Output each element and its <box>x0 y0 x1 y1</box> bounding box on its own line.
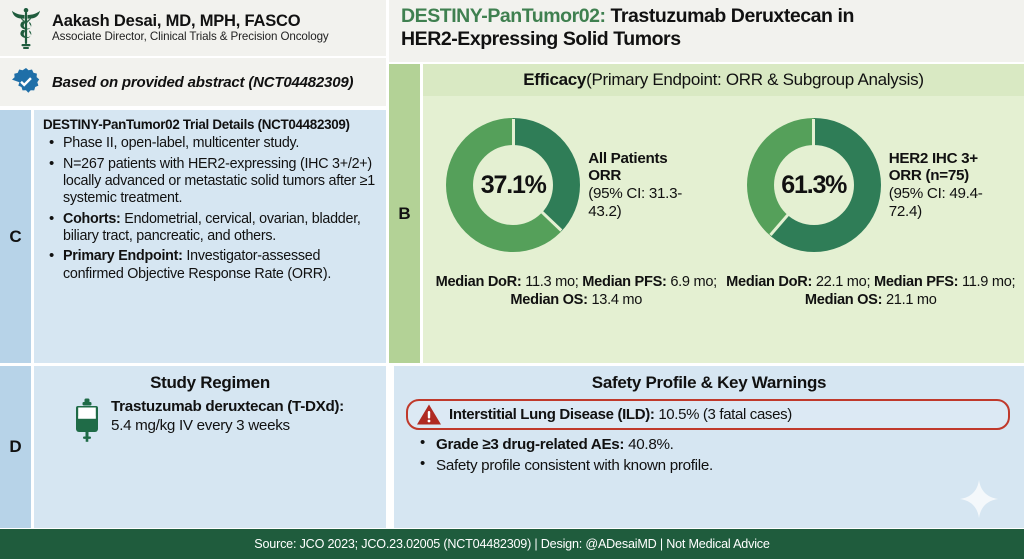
trial-details-title: DESTINY-PanTumor02 Trial Details (NCT044… <box>43 117 378 132</box>
study-regimen-body: Study Regimen <box>34 366 386 528</box>
list-item: Safety profile consistent with known pro… <box>420 456 1010 475</box>
footer-text: Source: JCO 2023; JCO.23.02005 (NCT04482… <box>254 537 769 551</box>
donut-label-ci: (95% CI: 49.4-72.4) <box>889 185 1001 220</box>
list-item: Cohorts: Endometrial, cervical, ovarian,… <box>43 211 378 245</box>
list-item-lead: Primary Endpoint: <box>63 248 183 264</box>
median-outcomes-row: Median DoR: 11.3 mo; Median PFS: 6.9 mo;… <box>423 274 1024 310</box>
warning-triangle-icon <box>416 403 442 426</box>
median-dor-value: 22.1 mo; <box>812 274 874 290</box>
median-pfs-value: 6.9 mo; <box>667 274 717 290</box>
donut-gap-end <box>540 210 562 231</box>
abstract-note: Based on provided abstract (NCT04482309) <box>52 74 353 91</box>
list-item-lead: Grade ≥3 drug-related AEs: <box>436 436 624 453</box>
median-os-value: 21.1 mo <box>882 292 936 308</box>
regimen-text: Trastuzumab deruxtecan (T-DXd): 5.4 mg/k… <box>111 398 344 435</box>
donut-label-title: HER2 IHC 3+ ORR (n=75) <box>889 150 1001 185</box>
list-item-text: Phase II, open-label, multicenter study. <box>63 135 299 151</box>
donut-label-all-patients: All Patients ORR (95% CI: 31.3-43.2) <box>588 150 700 221</box>
abstract-source-bar: Based on provided abstract (NCT04482309) <box>0 58 386 106</box>
donut-gap-start <box>812 119 815 147</box>
regimen-detail: Trastuzumab deruxtecan (T-DXd): 5.4 mg/k… <box>34 393 386 442</box>
donut-row: 37.1% All Patients ORR (95% CI: 31.3-43.… <box>423 96 1024 274</box>
donut-chart-all-patients: 37.1% <box>446 118 580 252</box>
regimen-safety-row: D Study Regimen <box>0 366 1024 528</box>
sparkle-icon <box>956 478 1002 524</box>
study-regimen-title: Study Regimen <box>34 373 386 393</box>
donut-group-all-patients: 37.1% All Patients ORR (95% CI: 31.3-43.… <box>423 96 724 274</box>
donut-value: 61.3% <box>781 171 846 200</box>
title-line-2: HER2-Expressing Solid Tumors <box>401 28 1014 51</box>
author-bar: Aakash Desai, MD, MPH, FASCO Associate D… <box>0 0 386 56</box>
ild-warning-box: Interstitial Lung Disease (ILD): 10.5% (… <box>406 399 1010 430</box>
donut-label-her2-ihc3: HER2 IHC 3+ ORR (n=75) (95% CI: 49.4-72.… <box>889 150 1001 221</box>
list-item: Primary Endpoint: Investigator-assessed … <box>43 248 378 282</box>
median-outcomes-her2-ihc3: Median DoR: 22.1 mo; Median PFS: 11.9 mo… <box>724 274 1019 310</box>
median-outcomes-all-patients: Median DoR: 11.3 mo; Median PFS: 6.9 mo;… <box>429 274 724 310</box>
median-pfs-value: 11.9 mo; <box>958 274 1015 290</box>
efficacy-body: Efficacy (Primary Endpoint: ORR & Subgro… <box>423 64 1024 363</box>
ild-value: 10.5% (3 fatal cases) <box>655 406 792 423</box>
list-item-text: 40.8%. <box>624 436 673 453</box>
median-dor-label: Median DoR: <box>726 274 812 290</box>
regimen-drug: Trastuzumab deruxtecan (T-DXd): <box>111 398 344 417</box>
median-pfs-label: Median PFS: <box>582 274 666 290</box>
median-os-value: 13.4 mo <box>588 292 642 308</box>
safety-panel: Safety Profile & Key Warnings Interstiti… <box>394 366 1024 528</box>
donut-center: 61.3% <box>774 145 854 225</box>
donut-chart-her2-ihc3: 61.3% <box>747 118 881 252</box>
median-pfs-label: Median PFS: <box>874 274 958 290</box>
section-tab-b: B <box>389 64 420 363</box>
caduceus-icon <box>0 6 52 50</box>
trial-details-list: Phase II, open-label, multicenter study.… <box>43 135 378 283</box>
section-tab-c: C <box>0 110 31 363</box>
infographic-canvas: Aakash Desai, MD, MPH, FASCO Associate D… <box>0 0 1024 559</box>
title-line-1: DESTINY-PanTumor02: Trastuzumab Deruxtec… <box>401 5 1014 28</box>
study-name: DESTINY-PanTumor02: <box>401 5 606 27</box>
section-tab-d: D <box>0 366 31 528</box>
donut-group-her2-ihc3: 61.3% HER2 IHC 3+ ORR (n=75) (95% CI: 49… <box>724 96 1024 274</box>
median-os-label: Median OS: <box>510 292 587 308</box>
efficacy-heading: Efficacy (Primary Endpoint: ORR & Subgro… <box>423 64 1024 96</box>
verified-badge-icon <box>0 67 52 97</box>
study-regimen-panel: D Study Regimen <box>0 366 386 528</box>
list-item: Grade ≥3 drug-related AEs: 40.8%. <box>420 435 1010 454</box>
donut-value: 37.1% <box>481 171 546 200</box>
donut-gap-start <box>512 119 515 147</box>
trial-details-body: DESTINY-PanTumor02 Trial Details (NCT044… <box>34 110 386 363</box>
footer-bar: Source: JCO 2023; JCO.23.02005 (NCT04482… <box>0 529 1024 559</box>
donut-label-title: All Patients ORR <box>588 150 700 185</box>
list-item: N=267 patients with HER2-expressing (IHC… <box>43 156 378 207</box>
ild-label: Interstitial Lung Disease (ILD): <box>449 406 655 423</box>
list-item: Phase II, open-label, multicenter study. <box>43 135 378 152</box>
efficacy-panel: B Efficacy (Primary Endpoint: ORR & Subg… <box>389 64 1024 363</box>
ild-warning-text: Interstitial Lung Disease (ILD): 10.5% (… <box>449 406 792 423</box>
safety-bullet-list: Grade ≥3 drug-related AEs: 40.8%. Safety… <box>394 435 1024 475</box>
donut-gap-end <box>770 213 791 236</box>
safety-title: Safety Profile & Key Warnings <box>394 373 1024 393</box>
list-item-text: N=267 patients with HER2-expressing (IHC… <box>63 156 375 206</box>
donut-label-ci: (95% CI: 31.3-43.2) <box>588 185 700 220</box>
author-name: Aakash Desai, MD, MPH, FASCO <box>52 12 329 30</box>
median-os-label: Median OS: <box>805 292 882 308</box>
author-identity: Aakash Desai, MD, MPH, FASCO Associate D… <box>52 12 329 44</box>
author-role: Associate Director, Clinical Trials & Pr… <box>52 30 329 44</box>
regimen-dose: 5.4 mg/kg IV every 3 weeks <box>111 417 344 436</box>
median-dor-label: Median DoR: <box>436 274 522 290</box>
efficacy-heading-rest: (Primary Endpoint: ORR & Subgroup Analys… <box>586 70 924 90</box>
iv-bag-icon <box>72 398 102 442</box>
page-title: DESTINY-PanTumor02: Trastuzumab Deruxtec… <box>389 0 1024 62</box>
title-rest: Trastuzumab Deruxtecan in <box>606 5 854 27</box>
trial-details-panel: C DESTINY-PanTumor02 Trial Details (NCT0… <box>0 110 386 363</box>
efficacy-heading-bold: Efficacy <box>523 70 586 90</box>
list-item-text: Safety profile consistent with known pro… <box>436 457 713 474</box>
list-item-lead: Cohorts: <box>63 211 121 227</box>
median-dor-value: 11.3 mo; <box>521 274 582 290</box>
donut-center: 37.1% <box>473 145 553 225</box>
